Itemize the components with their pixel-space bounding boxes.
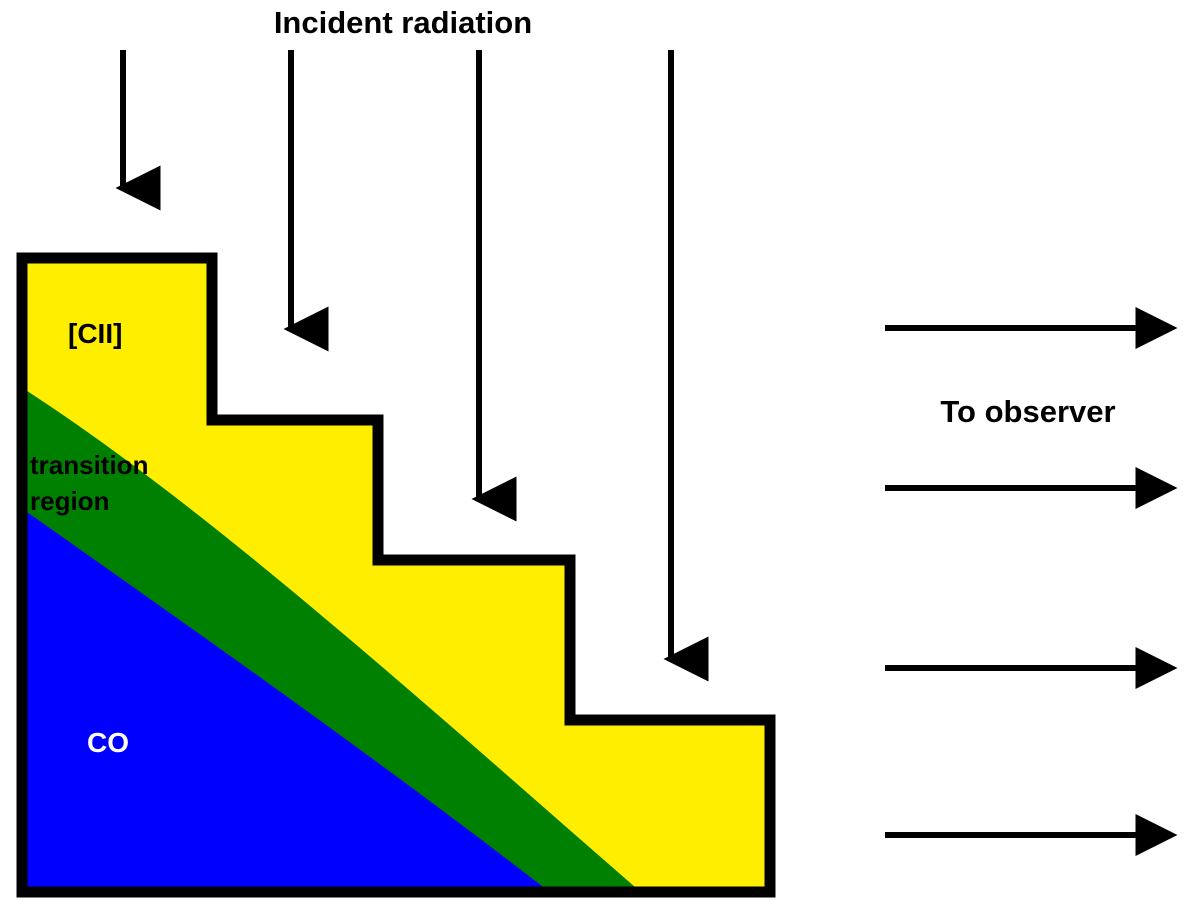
transition-label-line2: region xyxy=(30,486,109,516)
diagram-title: Incident radiation xyxy=(274,5,532,40)
transition-label-line1: transition xyxy=(30,450,148,480)
cii-label: [CII] xyxy=(68,318,122,349)
pdr-cloud-diagram: Incident radiation [CII] transition regi… xyxy=(0,0,1200,907)
to-observer-label: To observer xyxy=(940,394,1115,429)
co-label: CO xyxy=(87,727,129,758)
diagram-canvas: Incident radiation [CII] transition regi… xyxy=(0,0,1200,907)
